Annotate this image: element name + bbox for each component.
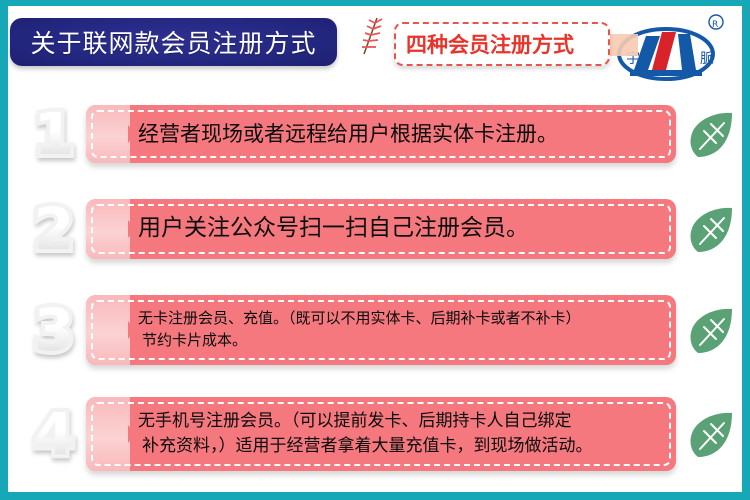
leaf-icon xyxy=(684,303,738,357)
item-bar: 无卡注册会员、充值。（既可以不用实体卡、后期补卡或者不补卡） 节约卡片成本。 xyxy=(86,295,676,365)
poster-canvas: 关于联网款会员注册方式 四种会员注册方式 xyxy=(8,6,742,492)
item-bar-wrap: 经营者现场或者远程给用户根据实体卡注册。 xyxy=(86,105,676,163)
svg-text:R: R xyxy=(712,20,718,30)
leaf-icon xyxy=(684,107,738,161)
item-bar-wrap: 用户关注公众号扫一扫自己注册会员。 xyxy=(86,199,676,259)
item-text: 用户关注公众号扫一扫自己注册会员。 xyxy=(86,204,543,253)
leaf-icon xyxy=(684,202,738,256)
item-number-fill: 1 xyxy=(34,105,74,163)
items-list: 1 1 经营者现场或者远程给用户根据实体卡注册。 xyxy=(8,88,742,486)
svg-text:脈: 脈 xyxy=(700,51,714,67)
list-item: 4 4 无手机号注册会员。（可以提前发卡、后期持卡人自己绑定 补充资料，）适用于… xyxy=(8,382,742,486)
item-bar-wrap: 无卡注册会员、充值。（既可以不用实体卡、后期补卡或者不补卡） 节约卡片成本。 xyxy=(86,295,676,365)
list-item: 1 1 经营者现场或者远程给用户根据实体卡注册。 xyxy=(8,88,742,180)
item-number-3: 3 3 xyxy=(8,301,86,359)
item-text: 经营者现场或者远程给用户根据实体卡注册。 xyxy=(86,111,572,157)
subtitle-label-card: 四种会员注册方式 xyxy=(394,22,610,66)
item-number-2: 2 2 xyxy=(8,200,86,258)
item-text-line: 无卡注册会员、充值。（既可以不用实体卡、后期补卡或者不补卡） xyxy=(138,308,581,330)
leaf-icon xyxy=(684,407,738,461)
item-number-fill: 4 xyxy=(34,405,74,463)
list-item: 3 3 无卡注册会员、充值。（既可以不用实体卡、后期补卡或者不补卡） 节约卡片成… xyxy=(8,278,742,382)
item-text-line: 节约卡片成本。 xyxy=(138,330,581,352)
page-title-badge: 关于联网款会员注册方式 xyxy=(10,18,337,66)
item-text-line: 补充资料，）适用于经营者拿着大量充值卡，到现场做活动。 xyxy=(138,434,593,459)
item-bar: 经营者现场或者远程给用户根据实体卡注册。 xyxy=(86,105,676,163)
item-text-line: 经营者现场或者远程给用户根据实体卡注册。 xyxy=(138,119,558,149)
item-number-1: 1 1 xyxy=(8,105,86,163)
item-text-line: 无手机号注册会员。（可以提前发卡、后期持卡人自己绑定 xyxy=(138,409,593,434)
item-number-fill: 3 xyxy=(34,301,74,359)
item-number-4: 4 4 xyxy=(8,405,86,463)
item-number-fill: 2 xyxy=(34,200,74,258)
page-title: 关于联网款会员注册方式 xyxy=(30,24,316,60)
item-bar: 无手机号注册会员。（可以提前发卡、后期持卡人自己绑定 补充资料，）适用于经营者拿… xyxy=(86,397,676,471)
item-bar-wrap: 无手机号注册会员。（可以提前发卡、后期持卡人自己绑定 补充资料，）适用于经营者拿… xyxy=(86,397,676,471)
item-text: 无卡注册会员、充值。（既可以不用实体卡、后期补卡或者不补卡） 节约卡片成本。 xyxy=(86,300,595,360)
list-item: 2 2 用户关注公众号扫一扫自己注册会员。 xyxy=(8,180,742,278)
poster-root: 关于联网款会员注册方式 四种会员注册方式 xyxy=(0,0,750,500)
item-bar: 用户关注公众号扫一扫自己注册会员。 xyxy=(86,199,676,259)
plant-sprig-icon xyxy=(353,14,387,58)
header: 关于联网款会员注册方式 四种会员注册方式 xyxy=(8,6,742,88)
item-text: 无手机号注册会员。（可以提前发卡、后期持卡人自己绑定 补充资料，）适用于经营者拿… xyxy=(86,401,607,466)
item-text-line: 用户关注公众号扫一扫自己注册会员。 xyxy=(138,212,529,245)
subtitle-label: 四种会员注册方式 xyxy=(406,29,574,59)
